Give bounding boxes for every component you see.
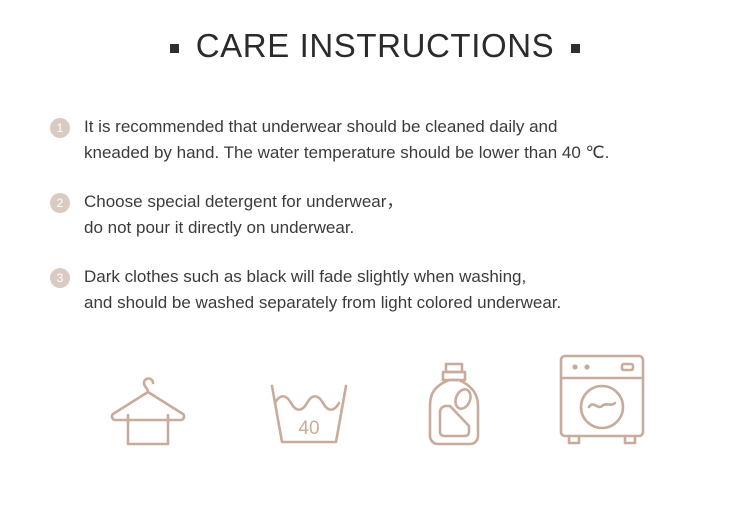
instruction-line: and should be washed separately from lig… xyxy=(84,290,561,316)
instruction-text: Choose special detergent for underwear， … xyxy=(84,189,403,241)
washing-machine-icon-cell xyxy=(556,352,648,448)
instruction-line: Choose special detergent for underwear， xyxy=(84,189,403,215)
instruction-line: kneaded by hand. The water temperature s… xyxy=(84,140,609,166)
hanger-icon-cell xyxy=(102,370,194,448)
instruction-line: do not pour it directly on underwear. xyxy=(84,215,403,241)
hanger-icon xyxy=(102,370,194,448)
page-title: CARE INSTRUCTIONS xyxy=(196,26,555,66)
instruction-line: Dark clothes such as black will fade sli… xyxy=(84,264,561,290)
instruction-text: Dark clothes such as black will fade sli… xyxy=(84,264,561,316)
wash-temperature-label: 40 xyxy=(298,418,319,439)
step-number-badge: 1 xyxy=(50,118,70,138)
step-number-badge: 2 xyxy=(50,193,70,213)
detergent-bottle-icon-cell xyxy=(424,360,484,448)
list-item: 3 Dark clothes such as black will fade s… xyxy=(50,264,720,316)
detergent-bottle-icon xyxy=(424,360,484,448)
instruction-text: It is recommended that underwear should … xyxy=(84,114,609,166)
list-item: 2 Choose special detergent for underwear… xyxy=(50,189,720,241)
square-bullet-left-icon xyxy=(170,44,179,53)
page-title-row: CARE INSTRUCTIONS xyxy=(0,26,750,66)
wash-tub-icon-cell: 40 xyxy=(266,376,352,448)
square-bullet-right-icon xyxy=(571,44,580,53)
care-symbol-row: 40 xyxy=(0,338,750,448)
list-item: 1 It is recommended that underwear shoul… xyxy=(50,114,720,166)
washing-machine-icon xyxy=(556,352,648,448)
step-number-badge: 3 xyxy=(50,268,70,288)
instruction-list: 1 It is recommended that underwear shoul… xyxy=(50,114,720,339)
wash-tub-icon: 40 xyxy=(266,376,352,448)
instruction-line: It is recommended that underwear should … xyxy=(84,114,609,140)
